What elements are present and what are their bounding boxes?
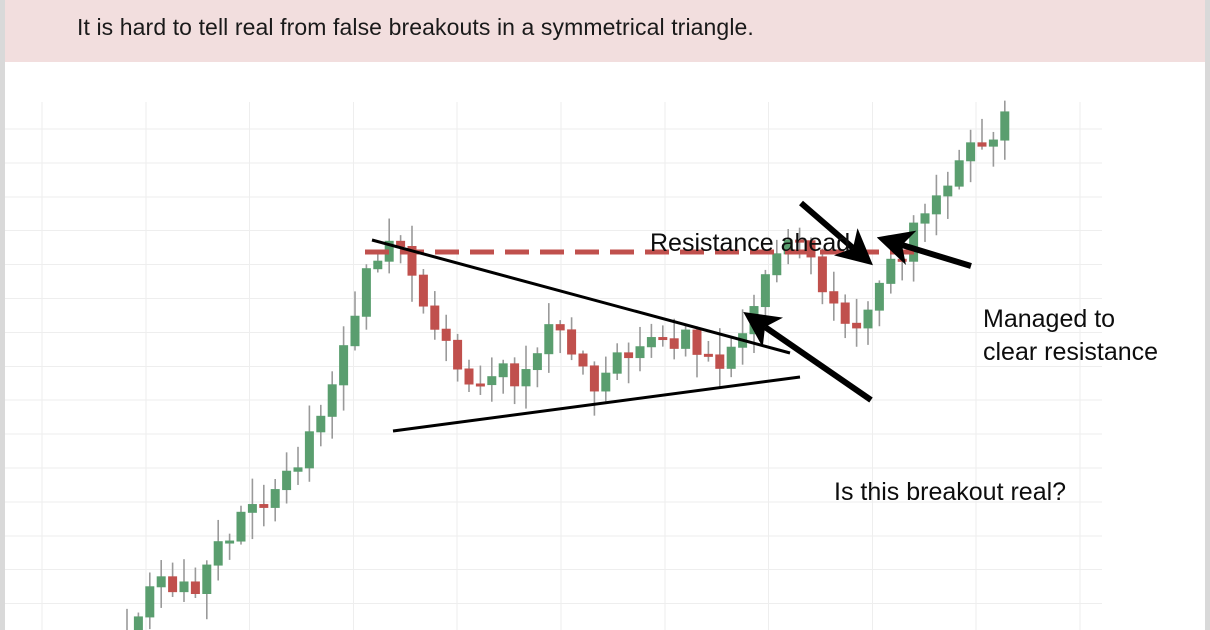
arrow-is-this-breakout-real <box>765 327 871 400</box>
page-title: It is hard to tell real from false break… <box>77 14 754 41</box>
annotation-managed-line-2: clear resistance <box>983 336 1158 369</box>
annotation-managed-line-1: Managed to <box>983 303 1158 336</box>
annotation-is-this-breakout-real: Is this breakout real? <box>834 476 1066 509</box>
annotation-managed-to-clear: Managed to clear resistance <box>983 303 1158 369</box>
annotation-resistance-ahead: Resistance ahead <box>650 227 850 260</box>
chart-gridlines <box>5 102 1102 630</box>
title-banner: It is hard to tell real from false break… <box>5 0 1205 62</box>
candlestick-series <box>123 101 1009 630</box>
slide-root: It is hard to tell real from false break… <box>0 0 1210 630</box>
candlestick-chart: Resistance ahead Managed to clear resist… <box>5 62 1205 630</box>
